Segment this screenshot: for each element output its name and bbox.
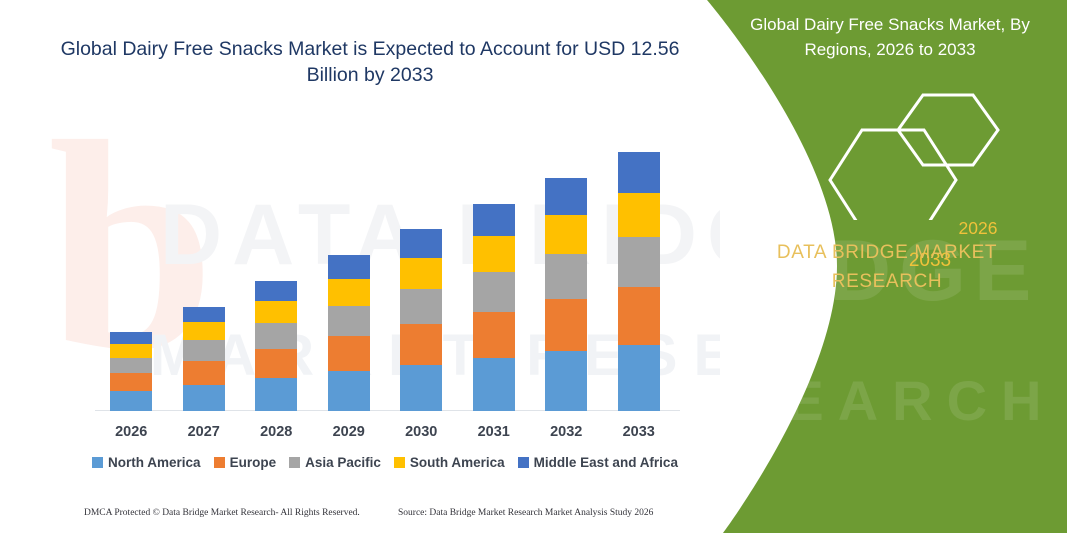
bar-segment-north-america[interactable] [110, 391, 152, 411]
legend-swatch-middle-east-and-africa [518, 457, 529, 468]
bar-segment-middle-east-and-africa[interactable] [328, 255, 370, 279]
bar-segment-asia-pacific[interactable] [473, 272, 515, 312]
hexagon-shapes [767, 90, 1027, 220]
bar-segment-south-america[interactable] [110, 344, 152, 358]
bar-segment-asia-pacific[interactable] [545, 254, 587, 299]
bar-2028[interactable] [255, 281, 297, 411]
chart-legend: North AmericaEuropeAsia PacificSouth Ame… [95, 455, 675, 470]
legend-swatch-asia-pacific [289, 457, 300, 468]
brand-line-2: RESEARCH [717, 267, 1057, 296]
stacked-bar-chart [95, 130, 675, 411]
bar-segment-europe[interactable] [183, 361, 225, 385]
bar-segment-south-america[interactable] [473, 236, 515, 271]
x-axis-labels: 20262027202820292030203120322033 [95, 424, 675, 444]
bar-segment-south-america[interactable] [328, 279, 370, 306]
bar-segment-asia-pacific[interactable] [618, 237, 660, 287]
bar-segment-south-america[interactable] [183, 322, 225, 340]
bar-segment-north-america[interactable] [400, 365, 442, 411]
bar-segment-middle-east-and-africa[interactable] [110, 332, 152, 344]
bar-segment-europe[interactable] [400, 324, 442, 365]
bar-segment-europe[interactable] [618, 287, 660, 345]
bar-2032[interactable] [545, 178, 587, 411]
x-axis-label-2028: 2028 [241, 424, 311, 440]
x-axis-label-2027: 2027 [169, 424, 239, 440]
legend-item-middle-east-and-africa[interactable]: Middle East and Africa [518, 455, 678, 470]
x-axis-label-2032: 2032 [531, 424, 601, 440]
bar-segment-south-america[interactable] [545, 215, 587, 255]
x-axis-label-2026: 2026 [96, 424, 166, 440]
legend-label-europe: Europe [230, 455, 277, 470]
bar-segment-asia-pacific[interactable] [110, 358, 152, 374]
bar-segment-middle-east-and-africa[interactable] [545, 178, 587, 215]
bar-segment-middle-east-and-africa[interactable] [255, 281, 297, 301]
legend-swatch-south-america [394, 457, 405, 468]
bar-2027[interactable] [183, 307, 225, 411]
bar-segment-asia-pacific[interactable] [183, 340, 225, 360]
brand-line-1: DATA BRIDGE MARKET [717, 238, 1057, 267]
bar-segment-south-america[interactable] [618, 193, 660, 237]
bar-segment-middle-east-and-africa[interactable] [183, 307, 225, 323]
bar-segment-europe[interactable] [328, 336, 370, 371]
hexagon-2026-label: 2026 [943, 218, 1013, 239]
bar-segment-europe[interactable] [255, 349, 297, 378]
legend-label-south-america: South America [410, 455, 505, 470]
green-side-panel: RIDGE SEARCH Global Dairy Free Snacks Ma… [687, 0, 1067, 533]
legend-item-europe[interactable]: Europe [214, 455, 277, 470]
x-axis-label-2030: 2030 [386, 424, 456, 440]
legend-label-asia-pacific: Asia Pacific [305, 455, 381, 470]
bar-segment-north-america[interactable] [545, 351, 587, 411]
bar-2031[interactable] [473, 204, 515, 411]
x-axis-label-2031: 2031 [459, 424, 529, 440]
bar-2026[interactable] [110, 332, 152, 411]
bar-segment-north-america[interactable] [328, 371, 370, 411]
legend-label-north-america: North America [108, 455, 201, 470]
legend-item-north-america[interactable]: North America [92, 455, 201, 470]
x-axis-label-2033: 2033 [604, 424, 674, 440]
x-axis-label-2029: 2029 [314, 424, 384, 440]
bar-segment-europe[interactable] [110, 373, 152, 391]
bar-segment-asia-pacific[interactable] [400, 289, 442, 324]
green-panel-title: Global Dairy Free Snacks Market, By Regi… [725, 12, 1055, 62]
bar-segment-north-america[interactable] [473, 358, 515, 411]
bar-segment-north-america[interactable] [255, 378, 297, 411]
infographic-root: b DATA BRIDGE MARKET RESEARCH Global Dai… [0, 0, 1067, 533]
bar-segment-europe[interactable] [545, 299, 587, 351]
bar-segment-middle-east-and-africa[interactable] [473, 204, 515, 237]
bar-segment-north-america[interactable] [618, 345, 660, 411]
bar-2029[interactable] [328, 255, 370, 411]
hexagon-group: 2026 2033 [767, 90, 1027, 220]
bar-segment-europe[interactable] [473, 312, 515, 358]
bar-segment-north-america[interactable] [183, 385, 225, 412]
legend-swatch-europe [214, 457, 225, 468]
legend-item-south-america[interactable]: South America [394, 455, 505, 470]
legend-item-asia-pacific[interactable]: Asia Pacific [289, 455, 381, 470]
bar-2030[interactable] [400, 229, 442, 411]
bar-segment-south-america[interactable] [400, 258, 442, 289]
bar-2033[interactable] [618, 152, 660, 411]
bar-segment-asia-pacific[interactable] [328, 306, 370, 336]
chart-title: Global Dairy Free Snacks Market is Expec… [60, 36, 680, 88]
footer-copyright: DMCA Protected © Data Bridge Market Rese… [84, 508, 360, 518]
legend-swatch-north-america [92, 457, 103, 468]
brand-name: DATA BRIDGE MARKET RESEARCH [717, 238, 1057, 296]
bar-segment-middle-east-and-africa[interactable] [400, 229, 442, 257]
hexagon-2033 [830, 130, 956, 220]
legend-label-middle-east-and-africa: Middle East and Africa [534, 455, 678, 470]
chart-panel: Global Dairy Free Snacks Market is Expec… [0, 0, 720, 533]
bar-segment-asia-pacific[interactable] [255, 323, 297, 348]
bar-segment-south-america[interactable] [255, 301, 297, 323]
bar-segment-middle-east-and-africa[interactable] [618, 152, 660, 193]
footer-source: Source: Data Bridge Market Research Mark… [398, 508, 653, 518]
